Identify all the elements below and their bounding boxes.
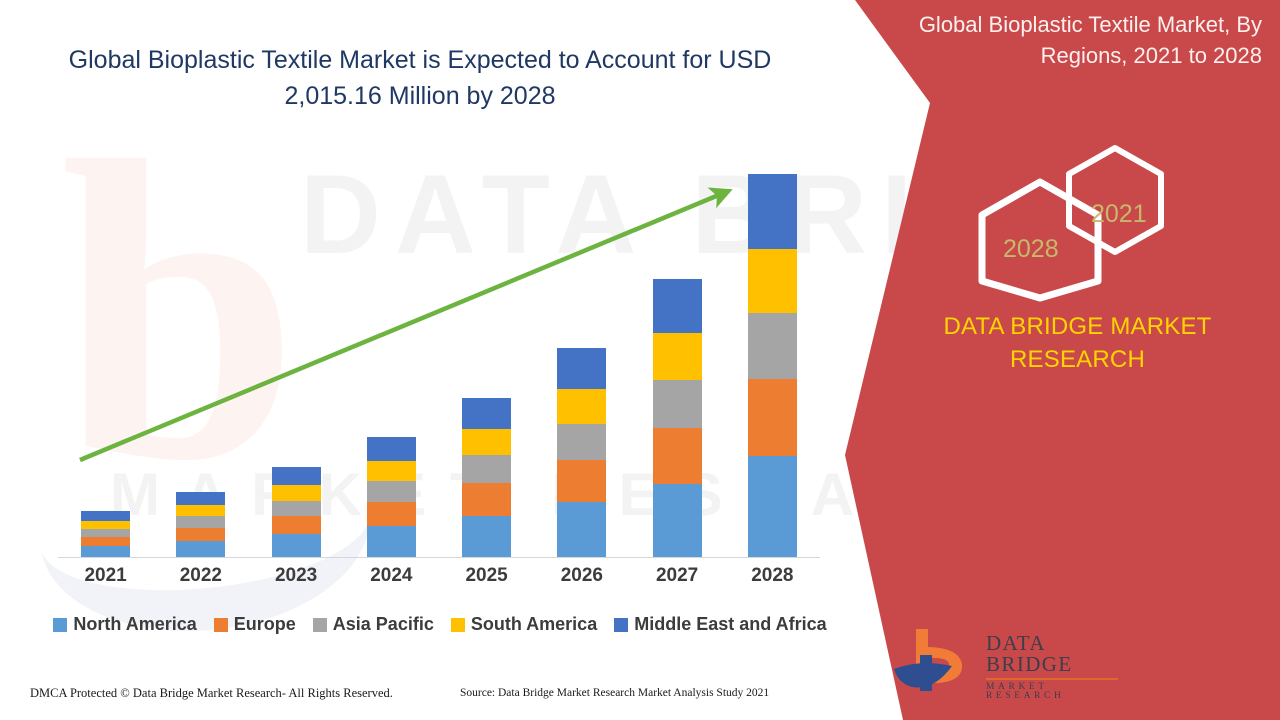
brand-name: DATA BRIDGE MARKET RESEARCH: [880, 310, 1275, 376]
bar-segment: [272, 516, 321, 534]
bar-segment: [653, 428, 702, 484]
bar-2024: [367, 437, 416, 557]
footer-copyright: DMCA Protected © Data Bridge Market Rese…: [30, 686, 393, 701]
bar-segment: [748, 313, 797, 379]
legend-swatch-icon: [614, 618, 628, 632]
bar-2023: [272, 467, 321, 557]
x-axis-label-2028: 2028: [748, 565, 797, 587]
x-axis-labels: 20212022202320242025202620272028: [58, 565, 820, 587]
bar-segment: [272, 534, 321, 557]
legend-label: South America: [471, 614, 597, 635]
brand-line-2: RESEARCH: [1010, 346, 1145, 373]
chart-legend: North AmericaEuropeAsia PacificSouth Ame…: [45, 614, 835, 635]
bar-segment: [272, 485, 321, 500]
bar-segment: [653, 484, 702, 557]
bar-2027: [653, 279, 702, 557]
bar-segment: [81, 521, 130, 529]
bar-segment: [81, 537, 130, 546]
bar-segment: [462, 398, 511, 429]
bar-segment: [557, 502, 606, 557]
x-axis-label-2024: 2024: [367, 565, 416, 587]
hexagon-outlines-icon: [965, 140, 1215, 305]
bar-segment: [81, 511, 130, 521]
x-axis-label-2023: 2023: [272, 565, 321, 587]
bar-segment: [176, 516, 225, 527]
bar-2025: [462, 398, 511, 557]
bar-segment: [367, 502, 416, 526]
x-axis-label-2021: 2021: [81, 565, 130, 587]
bar-segment: [176, 528, 225, 541]
legend-label: Middle East and Africa: [634, 614, 826, 635]
bar-2026: [557, 348, 606, 557]
bar-segment: [748, 174, 797, 249]
logo-main-text: DATA BRIDGE: [986, 633, 1121, 675]
legend-swatch-icon: [214, 618, 228, 632]
bar-group: [58, 160, 820, 557]
x-axis-label-2022: 2022: [176, 565, 225, 587]
bar-segment: [272, 501, 321, 517]
x-axis-label-2026: 2026: [557, 565, 606, 587]
bar-segment: [176, 492, 225, 505]
x-axis-line: [58, 557, 820, 558]
bar-2022: [176, 492, 225, 557]
footer-source: Source: Data Bridge Market Research Mark…: [460, 687, 769, 699]
bar-segment: [367, 526, 416, 557]
bar-segment: [748, 379, 797, 456]
bar-2028: [748, 174, 797, 557]
bar-segment: [81, 529, 130, 537]
hexagon-label-2021: 2021: [1091, 200, 1147, 229]
bar-segment: [557, 460, 606, 502]
infographic-root: b DATA BRIDGE MARKET RESEARCH Global Bio…: [0, 0, 1280, 720]
legend-swatch-icon: [313, 618, 327, 632]
bar-segment: [81, 546, 130, 557]
bar-segment: [176, 541, 225, 557]
bar-segment: [653, 279, 702, 333]
legend-item-asia-pacific[interactable]: Asia Pacific: [313, 614, 434, 635]
bar-segment: [462, 429, 511, 455]
legend-item-south-america[interactable]: South America: [451, 614, 597, 635]
logo-sub-text: MARKET RESEARCH: [986, 683, 1121, 702]
bar-segment: [367, 461, 416, 481]
hexagon-label-2028: 2028: [1003, 235, 1059, 264]
bar-segment: [748, 456, 797, 557]
side-panel-content: Global Bioplastic Textile Market, By Reg…: [880, 0, 1280, 720]
bar-segment: [557, 424, 606, 460]
chart-plot-area: [58, 160, 820, 558]
hexagon-group: 2021 2028: [965, 140, 1215, 305]
bar-segment: [653, 380, 702, 428]
panel-title: Global Bioplastic Textile Market, By Reg…: [880, 10, 1270, 72]
logo-mark-icon: [890, 625, 985, 697]
bar-segment: [748, 249, 797, 313]
company-logo: DATA BRIDGE MARKET RESEARCH: [890, 625, 1120, 700]
legend-swatch-icon: [451, 618, 465, 632]
legend-label: Europe: [234, 614, 296, 635]
logo-divider: [986, 678, 1118, 680]
bar-segment: [176, 505, 225, 516]
bar-segment: [272, 467, 321, 485]
legend-item-europe[interactable]: Europe: [214, 614, 296, 635]
bar-segment: [462, 483, 511, 515]
brand-line-1: DATA BRIDGE MARKET: [943, 313, 1211, 340]
bar-segment: [653, 333, 702, 379]
logo-text-block: DATA BRIDGE MARKET RESEARCH: [986, 633, 1121, 702]
legend-label: North America: [73, 614, 196, 635]
bar-segment: [557, 389, 606, 424]
x-axis-label-2027: 2027: [653, 565, 702, 587]
legend-item-north-america[interactable]: North America: [53, 614, 196, 635]
bar-segment: [557, 348, 606, 389]
bar-segment: [462, 516, 511, 558]
legend-label: Asia Pacific: [333, 614, 434, 635]
bar-segment: [462, 455, 511, 483]
x-axis-label-2025: 2025: [462, 565, 511, 587]
legend-swatch-icon: [53, 618, 67, 632]
bar-segment: [367, 437, 416, 460]
chart-title: Global Bioplastic Textile Market is Expe…: [40, 42, 800, 115]
bar-2021: [81, 511, 130, 557]
legend-item-middle-east-and-africa[interactable]: Middle East and Africa: [614, 614, 826, 635]
bar-segment: [367, 481, 416, 502]
